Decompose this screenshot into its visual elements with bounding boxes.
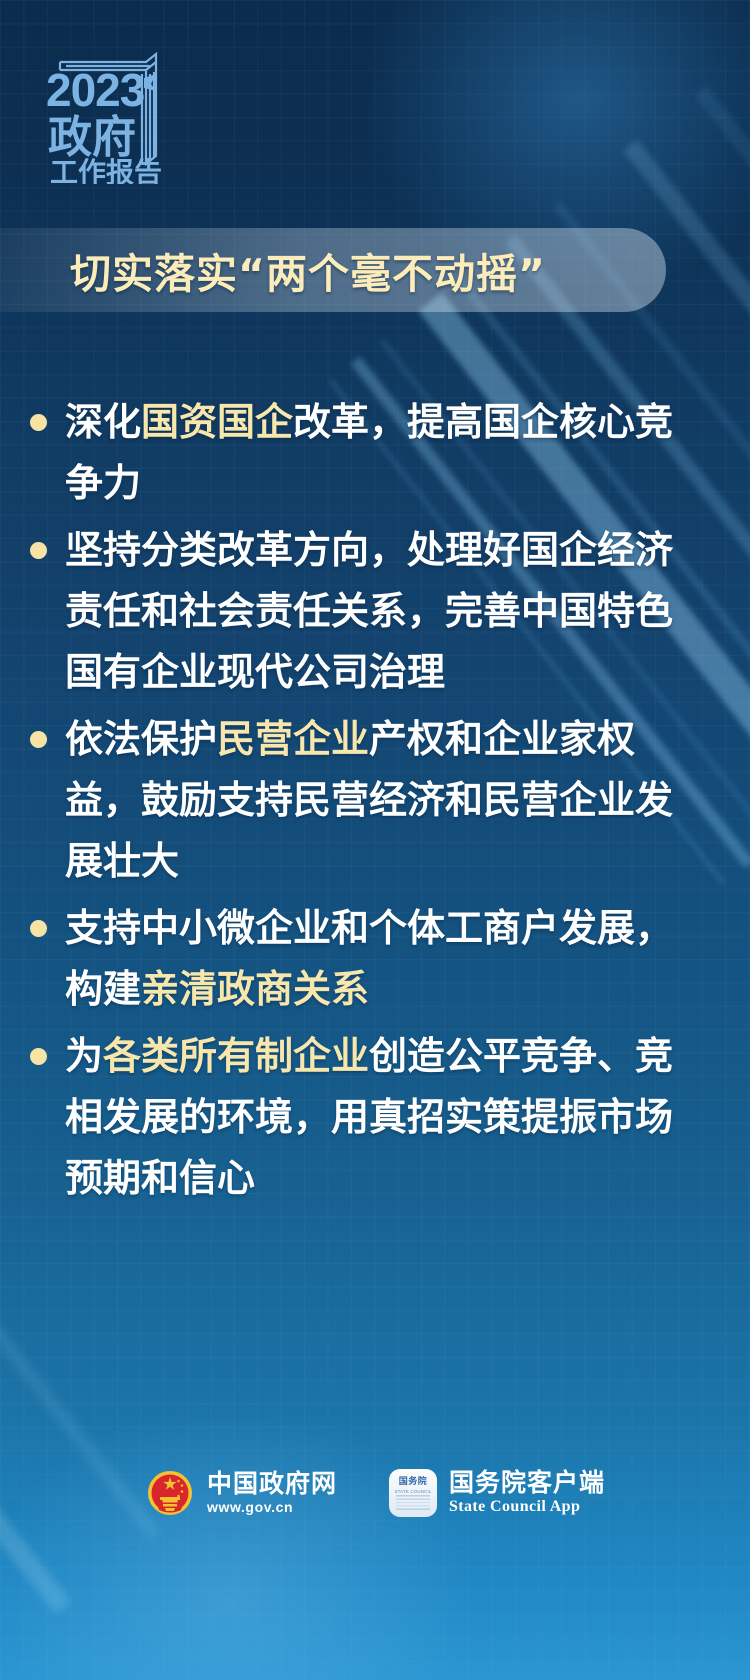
bullet-highlight-text: 亲清政商关系 xyxy=(141,967,369,1011)
svg-text:2023: 2023 xyxy=(46,64,144,116)
bullet-highlight-text: 各类所有制企业 xyxy=(103,1034,369,1078)
bullet-text: 支持中小微企业和个体工商户发展，构建亲清政商关系 xyxy=(65,898,710,1020)
poster-root: 2023 政府 工作报告 切实落实“两个毫不动摇” 深化国资国企改革，提高国企核… xyxy=(0,0,750,1680)
gov-site-name: 中国政府网 xyxy=(207,1470,337,1498)
bullet-item: 为各类所有制企业创造公平竞争、竞相发展的环境，用真招实策提振市场预期和信心 xyxy=(30,1026,710,1209)
bullet-plain-text: 依法保护 xyxy=(65,717,217,761)
gov-site-block[interactable]: 中国政府网 www.gov.cn xyxy=(145,1468,337,1518)
bullet-item: 依法保护民营企业产权和企业家权益，鼓励支持民营经济和民营企业发展壮大 xyxy=(30,709,710,892)
gov-site-labels: 中国政府网 www.gov.cn xyxy=(207,1470,337,1517)
bullet-item: 深化国资国企改革，提高国企核心竞争力 xyxy=(30,392,710,514)
brand-logo: 2023 政府 工作报告 xyxy=(38,44,188,184)
state-council-app-labels: 国务院客户端 State Council App xyxy=(449,1469,605,1517)
app-subtitle: State Council App xyxy=(449,1497,605,1517)
footer: 中国政府网 www.gov.cn 国务院 STATE COUNCIL 国务院客户… xyxy=(0,1468,750,1518)
book-icon: 2023 政府 工作报告 xyxy=(38,44,188,184)
bullet-item: 坚持分类改革方向，处理好国企经济责任和社会责任关系，完善中国特色国有企业现代公司… xyxy=(30,520,710,703)
gov-site-url: www.gov.cn xyxy=(207,1498,337,1517)
app-name: 国务院客户端 xyxy=(449,1469,605,1497)
svg-text:工作报告: 工作报告 xyxy=(50,156,162,184)
bullet-plain-text: 为 xyxy=(65,1034,103,1078)
bullet-text: 坚持分类改革方向，处理好国企经济责任和社会责任关系，完善中国特色国有企业现代公司… xyxy=(65,520,710,703)
title-banner: 切实落实“两个毫不动摇” xyxy=(0,228,666,312)
state-council-app-block[interactable]: 国务院 STATE COUNCIL 国务院客户端 State Council A… xyxy=(389,1469,605,1517)
page-title: 切实落实“两个毫不动摇” xyxy=(70,240,546,300)
bullet-item: 支持中小微企业和个体工商户发展，构建亲清政商关系 xyxy=(30,898,710,1020)
bullet-dot-icon xyxy=(30,542,47,559)
bullet-list: 深化国资国企改革，提高国企核心竞争力坚持分类改革方向，处理好国企经济责任和社会责… xyxy=(30,392,710,1215)
bullet-dot-icon xyxy=(30,920,47,937)
state-council-app-icon: 国务院 STATE COUNCIL xyxy=(389,1469,437,1517)
bullet-plain-text: 坚持分类改革方向，处理好国企经济责任和社会责任关系，完善中国特色国有企业现代公司… xyxy=(65,528,673,694)
bullet-highlight-text: 民营企业 xyxy=(217,717,369,761)
bullet-text: 深化国资国企改革，提高国企核心竞争力 xyxy=(65,392,710,514)
bullet-highlight-text: 国资国企 xyxy=(141,400,293,444)
app-icon-label: 国务院 xyxy=(395,1474,431,1489)
bullet-text: 依法保护民营企业产权和企业家权益，鼓励支持民营经济和民营企业发展壮大 xyxy=(65,709,710,892)
app-icon-sublabel: STATE COUNCIL xyxy=(393,1488,433,1495)
bullet-dot-icon xyxy=(30,414,47,431)
app-icon-gate-graphic xyxy=(396,1495,430,1512)
bullet-dot-icon xyxy=(30,731,47,748)
bullet-plain-text: 深化 xyxy=(65,400,141,444)
bullet-text: 为各类所有制企业创造公平竞争、竞相发展的环境，用真招实策提振市场预期和信心 xyxy=(65,1026,710,1209)
top-glow xyxy=(270,0,750,380)
bullet-dot-icon xyxy=(30,1048,47,1065)
national-emblem-icon xyxy=(145,1468,195,1518)
